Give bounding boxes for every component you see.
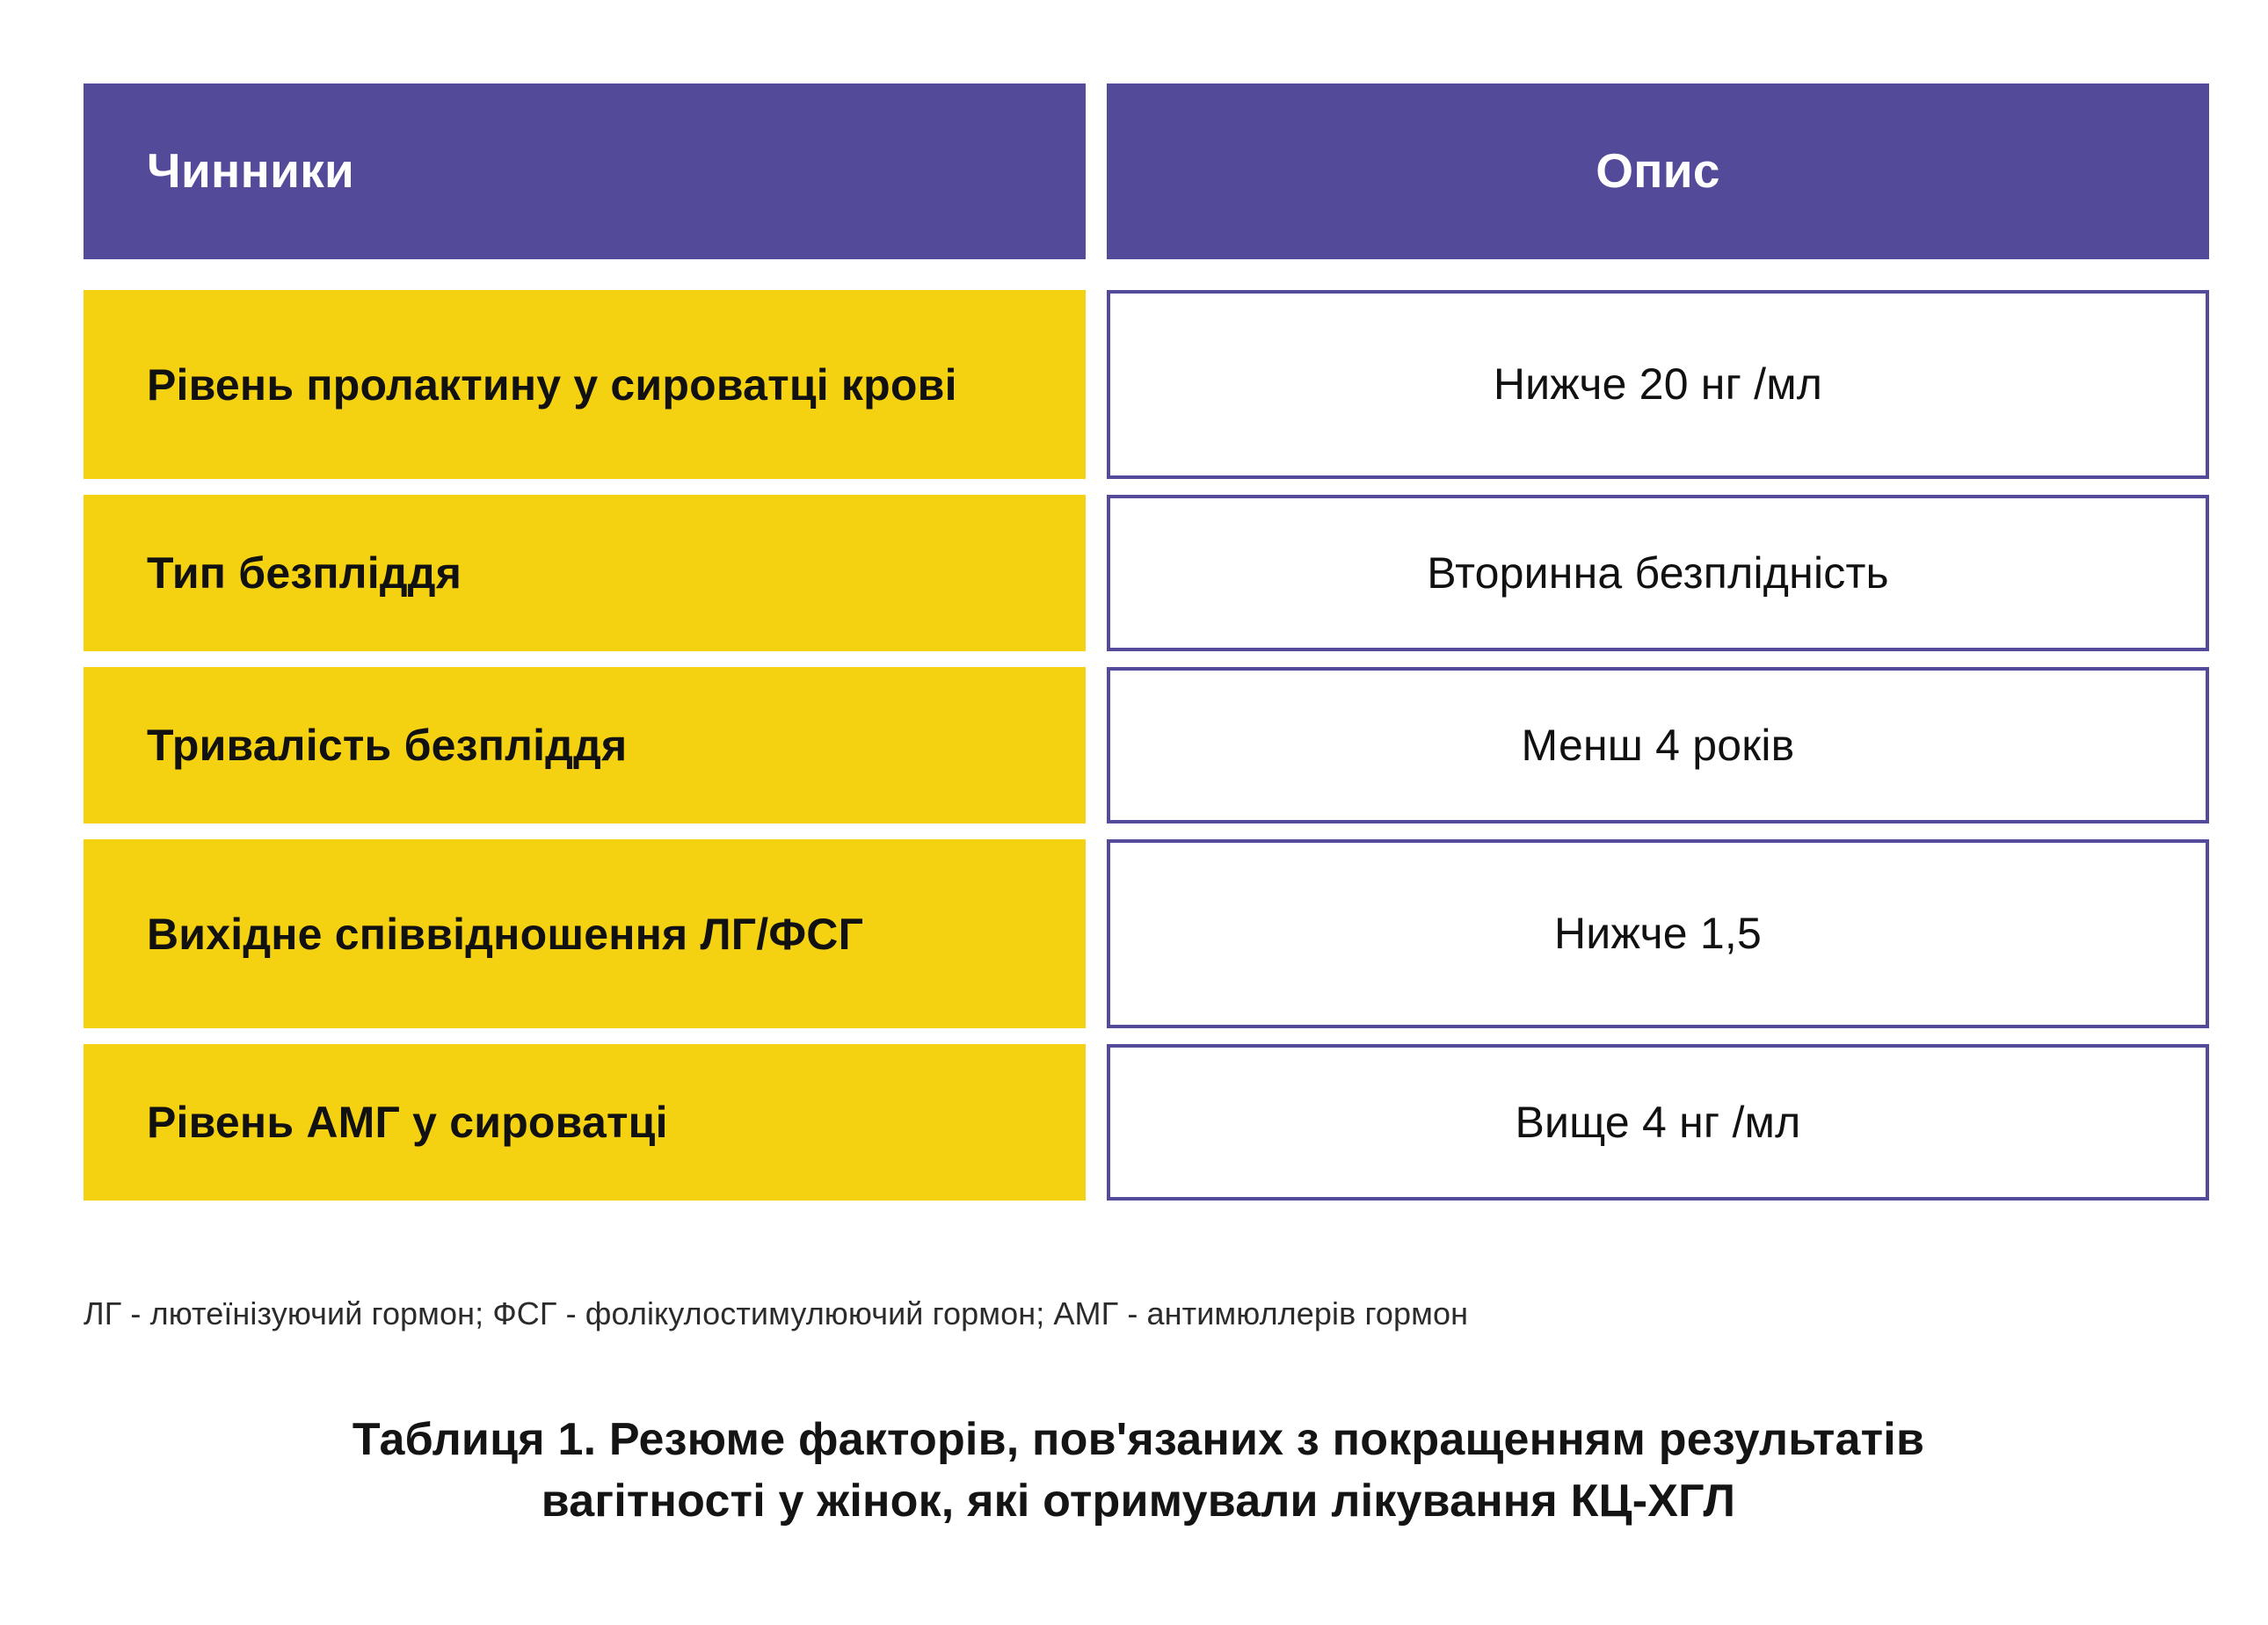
header-label-description: Опис [1596, 143, 1720, 199]
description-cell: Нижче 20 нг /мл [1107, 290, 2209, 479]
factor-cell: Вихідне співвідношення ЛГ/ФСГ [84, 839, 1086, 1028]
description-value: Вторинна безплідність [1427, 546, 1889, 601]
factor-label: Вихідне співвідношення ЛГ/ФСГ [147, 906, 863, 962]
factor-label: Тривалість безпліддя [147, 717, 627, 773]
column-gap [1086, 83, 1107, 259]
factor-cell: Тип безпліддя [84, 495, 1086, 651]
description-value: Менш 4 років [1522, 718, 1795, 773]
caption-line-2: вагітності у жінок, які отримували лікув… [132, 1470, 2145, 1532]
description-cell: Менш 4 років [1107, 667, 2209, 823]
table-figure: Чинники Опис Рівень пролактину у сироват… [0, 0, 2268, 1625]
factor-cell: Рівень АМГ у сироватці [84, 1044, 1086, 1201]
header-label-factors: Чинники [147, 143, 354, 199]
factor-cell: Рівень пролактину у сироватці крові [84, 290, 1086, 479]
column-gap [1086, 667, 1107, 823]
column-gap [1086, 1044, 1107, 1201]
table-row: Вихідне співвідношення ЛГ/ФСГ Нижче 1,5 [84, 839, 2209, 1028]
table-footnote: ЛГ - лютеїнізуючий гормон; ФСГ - фолікул… [84, 1295, 2193, 1332]
column-gap [1086, 495, 1107, 651]
caption-line-1: Таблиця 1. Резюме факторів, пов'язаних з… [132, 1409, 2145, 1470]
table-row: Рівень пролактину у сироватці крові Нижч… [84, 290, 2209, 479]
description-cell: Вище 4 нг /мл [1107, 1044, 2209, 1201]
table-header-row: Чинники Опис [84, 83, 2209, 259]
description-cell: Вторинна безплідність [1107, 495, 2209, 651]
summary-table: Чинники Опис Рівень пролактину у сироват… [84, 83, 2209, 1216]
column-gap [1086, 290, 1107, 479]
header-cell-factors: Чинники [84, 83, 1086, 259]
table-row: Тривалість безпліддя Менш 4 років [84, 667, 2209, 823]
description-value: Нижче 1,5 [1554, 906, 1762, 961]
description-value: Вище 4 нг /мл [1515, 1095, 1800, 1150]
factor-label: Рівень АМГ у сироватці [147, 1094, 668, 1150]
factor-cell: Тривалість безпліддя [84, 667, 1086, 823]
factor-label: Рівень пролактину у сироватці крові [147, 357, 957, 413]
header-cell-description: Опис [1107, 83, 2209, 259]
table-row: Тип безпліддя Вторинна безплідність [84, 495, 2209, 651]
table-caption: Таблиця 1. Резюме факторів, пов'язаних з… [132, 1409, 2145, 1532]
factor-label: Тип безпліддя [147, 545, 462, 601]
description-cell: Нижче 1,5 [1107, 839, 2209, 1028]
description-value: Нижче 20 нг /мл [1494, 357, 1822, 412]
column-gap [1086, 839, 1107, 1028]
table-row: Рівень АМГ у сироватці Вище 4 нг /мл [84, 1044, 2209, 1201]
